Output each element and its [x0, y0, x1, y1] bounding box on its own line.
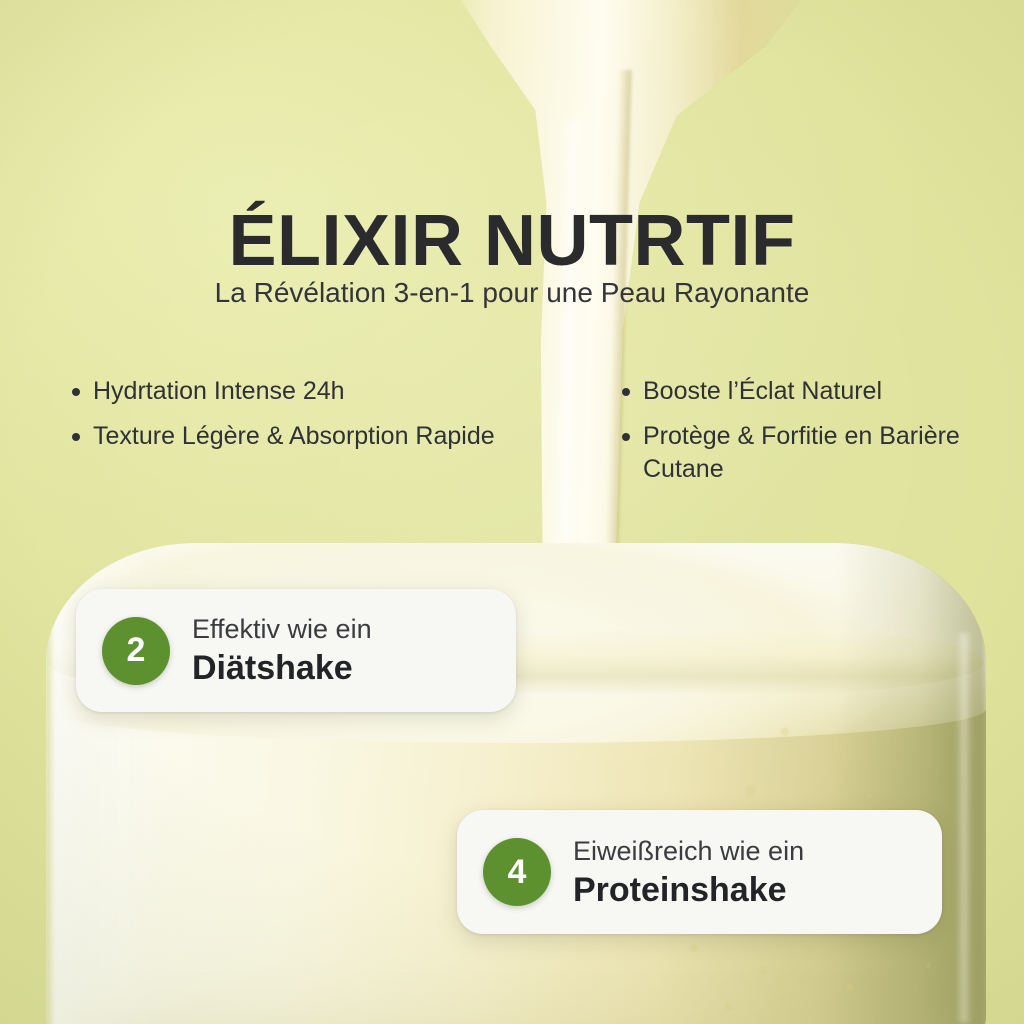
benefit-text: Protège & Forfitie en Barière Cutane — [643, 420, 1002, 486]
benefit-text: Booste l’Éclat Naturel — [643, 375, 882, 408]
feature-card-diaetshake[interactable]: 2 Effektiv wie ein Diätshake — [76, 589, 516, 712]
feature-card-subtitle: Eiweißreich wie ein — [573, 835, 804, 868]
bullet-dot-icon — [72, 388, 80, 396]
feature-card-title: Diätshake — [192, 648, 372, 688]
bullet-dot-icon — [72, 433, 80, 441]
benefit-text: Hydrtation Intense 24h — [93, 375, 345, 408]
benefits-left-column: Hydrtation Intense 24h Texture Légère & … — [72, 375, 542, 465]
feature-card-text: Eiweißreich wie ein Proteinshake — [573, 835, 804, 910]
list-item: Protège & Forfitie en Barière Cutane — [622, 420, 1002, 486]
feature-card-proteinshake[interactable]: 4 Eiweißreich wie ein Proteinshake — [457, 810, 942, 934]
feature-badge-number: 4 — [483, 838, 551, 906]
feature-card-title: Proteinshake — [573, 870, 804, 910]
bullet-dot-icon — [622, 388, 630, 396]
page-title: ÉLIXIR NUTRTIF — [0, 200, 1024, 282]
promo-poster: ÉLIXIR NUTRTIF La Révélation 3-en-1 pour… — [0, 0, 1024, 1024]
list-item: Texture Légère & Absorption Rapide — [72, 420, 542, 453]
feature-badge-number: 2 — [102, 617, 170, 685]
bullet-dot-icon — [622, 433, 630, 441]
feature-card-text: Effektiv wie ein Diätshake — [192, 613, 372, 688]
list-item: Hydrtation Intense 24h — [72, 375, 542, 408]
list-item: Booste l’Éclat Naturel — [622, 375, 1002, 408]
benefits-right-column: Booste l’Éclat Naturel Protège & Forfiti… — [622, 375, 1002, 498]
page-subtitle: La Révélation 3-en-1 pour une Peau Rayon… — [0, 277, 1024, 309]
benefit-text: Texture Légère & Absorption Rapide — [93, 420, 495, 453]
feature-card-subtitle: Effektiv wie ein — [192, 613, 372, 646]
